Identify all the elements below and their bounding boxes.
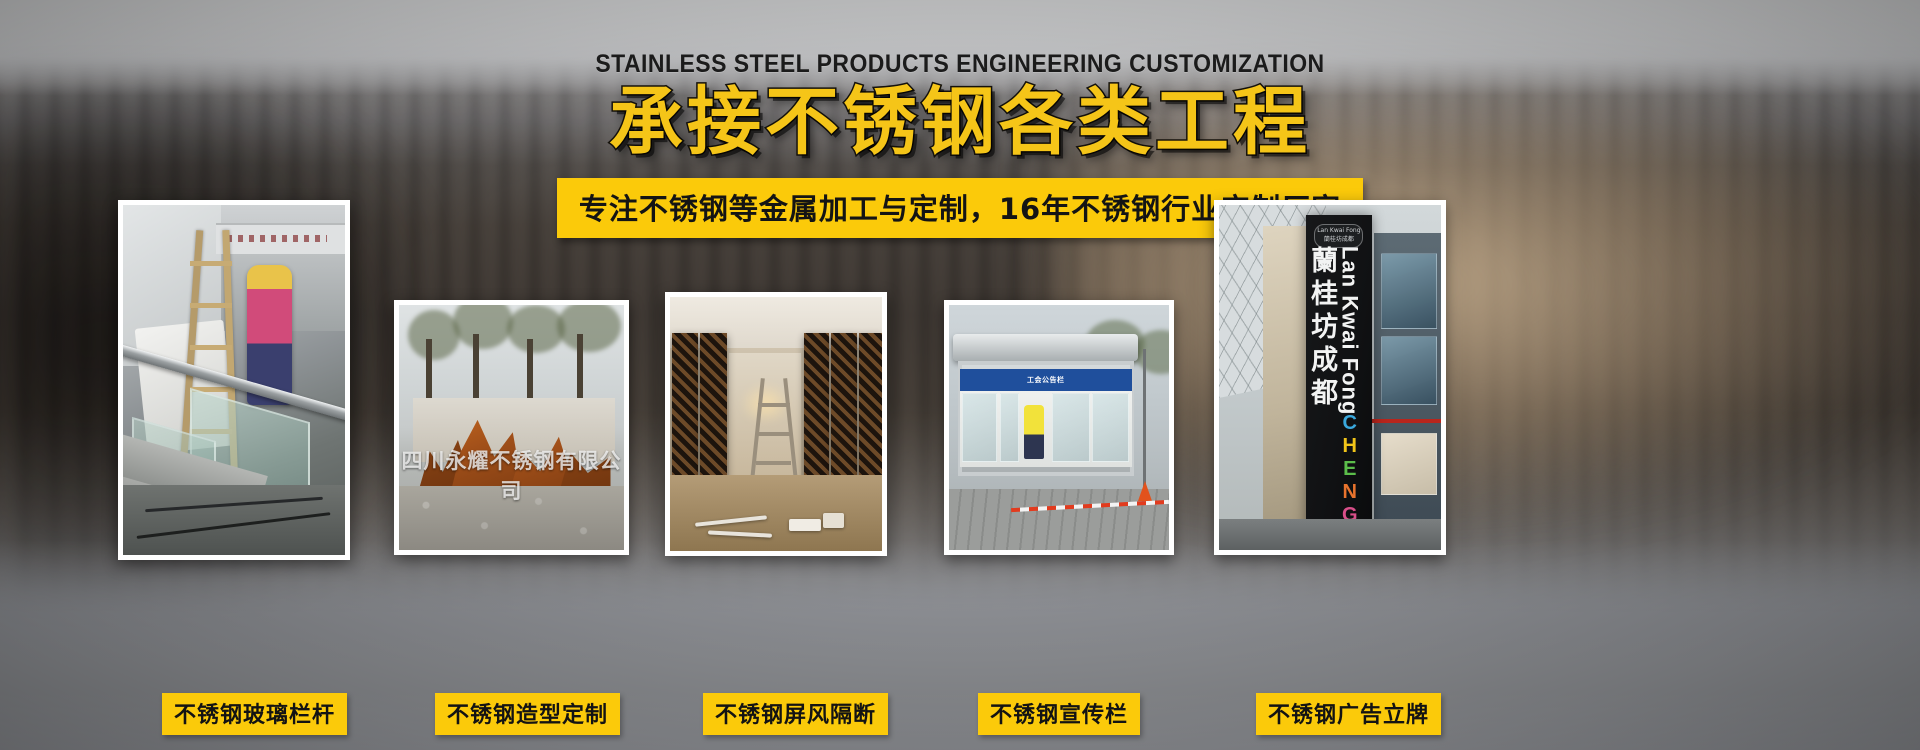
photo-bulletin-board[interactable]: 工会公告栏: [944, 300, 1174, 555]
photo-glass-railing-image: [123, 205, 345, 555]
pylon-chinese-text: 蘭桂坊成都: [1311, 246, 1331, 411]
bulletin-board-title: 工会公告栏: [960, 369, 1132, 391]
caption-screen-partition: 不锈钢屏风隔断: [703, 693, 888, 735]
caption-custom-shape: 不锈钢造型定制: [435, 693, 620, 735]
photo-advertising-pylon-image: Lan Kwai Fong 蘭桂坊成都 蘭桂坊成都 Lan Kwai Fong …: [1219, 205, 1441, 550]
caption-advertising-pylon: 不锈钢广告立牌: [1256, 693, 1441, 735]
pylon-plaque-text: Lan Kwai Fong 蘭桂坊成都: [1315, 227, 1362, 243]
bulletin-board-header: 工会公告栏: [960, 369, 1132, 391]
photo-glass-railing[interactable]: [118, 200, 350, 560]
photo-custom-shape[interactable]: 四川永耀不锈钢有限公司: [394, 300, 629, 555]
pylon-plaque: Lan Kwai Fong 蘭桂坊成都: [1314, 224, 1363, 248]
caption-glass-railing: 不锈钢玻璃栏杆: [162, 693, 347, 735]
photo-screen-partition[interactable]: [665, 292, 887, 556]
promotional-banner: STAINLESS STEEL PRODUCTS ENGINEERING CUS…: [0, 0, 1920, 750]
photo-advertising-pylon[interactable]: Lan Kwai Fong 蘭桂坊成都 蘭桂坊成都 Lan Kwai Fong …: [1214, 200, 1446, 555]
photo-screen-partition-image: [670, 297, 882, 551]
photo-bulletin-board-image: 工会公告栏: [949, 305, 1169, 550]
eyebrow-text: STAINLESS STEEL PRODUCTS ENGINEERING CUS…: [77, 50, 1843, 79]
page-title: 承接不锈钢各类工程: [0, 85, 1920, 160]
pylon-english-text: Lan Kwai Fong: [1337, 246, 1363, 415]
photo-custom-shape-image: 四川永耀不锈钢有限公司: [399, 305, 624, 550]
caption-bulletin-board: 不锈钢宣传栏: [978, 693, 1140, 735]
photo-watermark: 四川永耀不锈钢有限公司: [399, 445, 624, 505]
